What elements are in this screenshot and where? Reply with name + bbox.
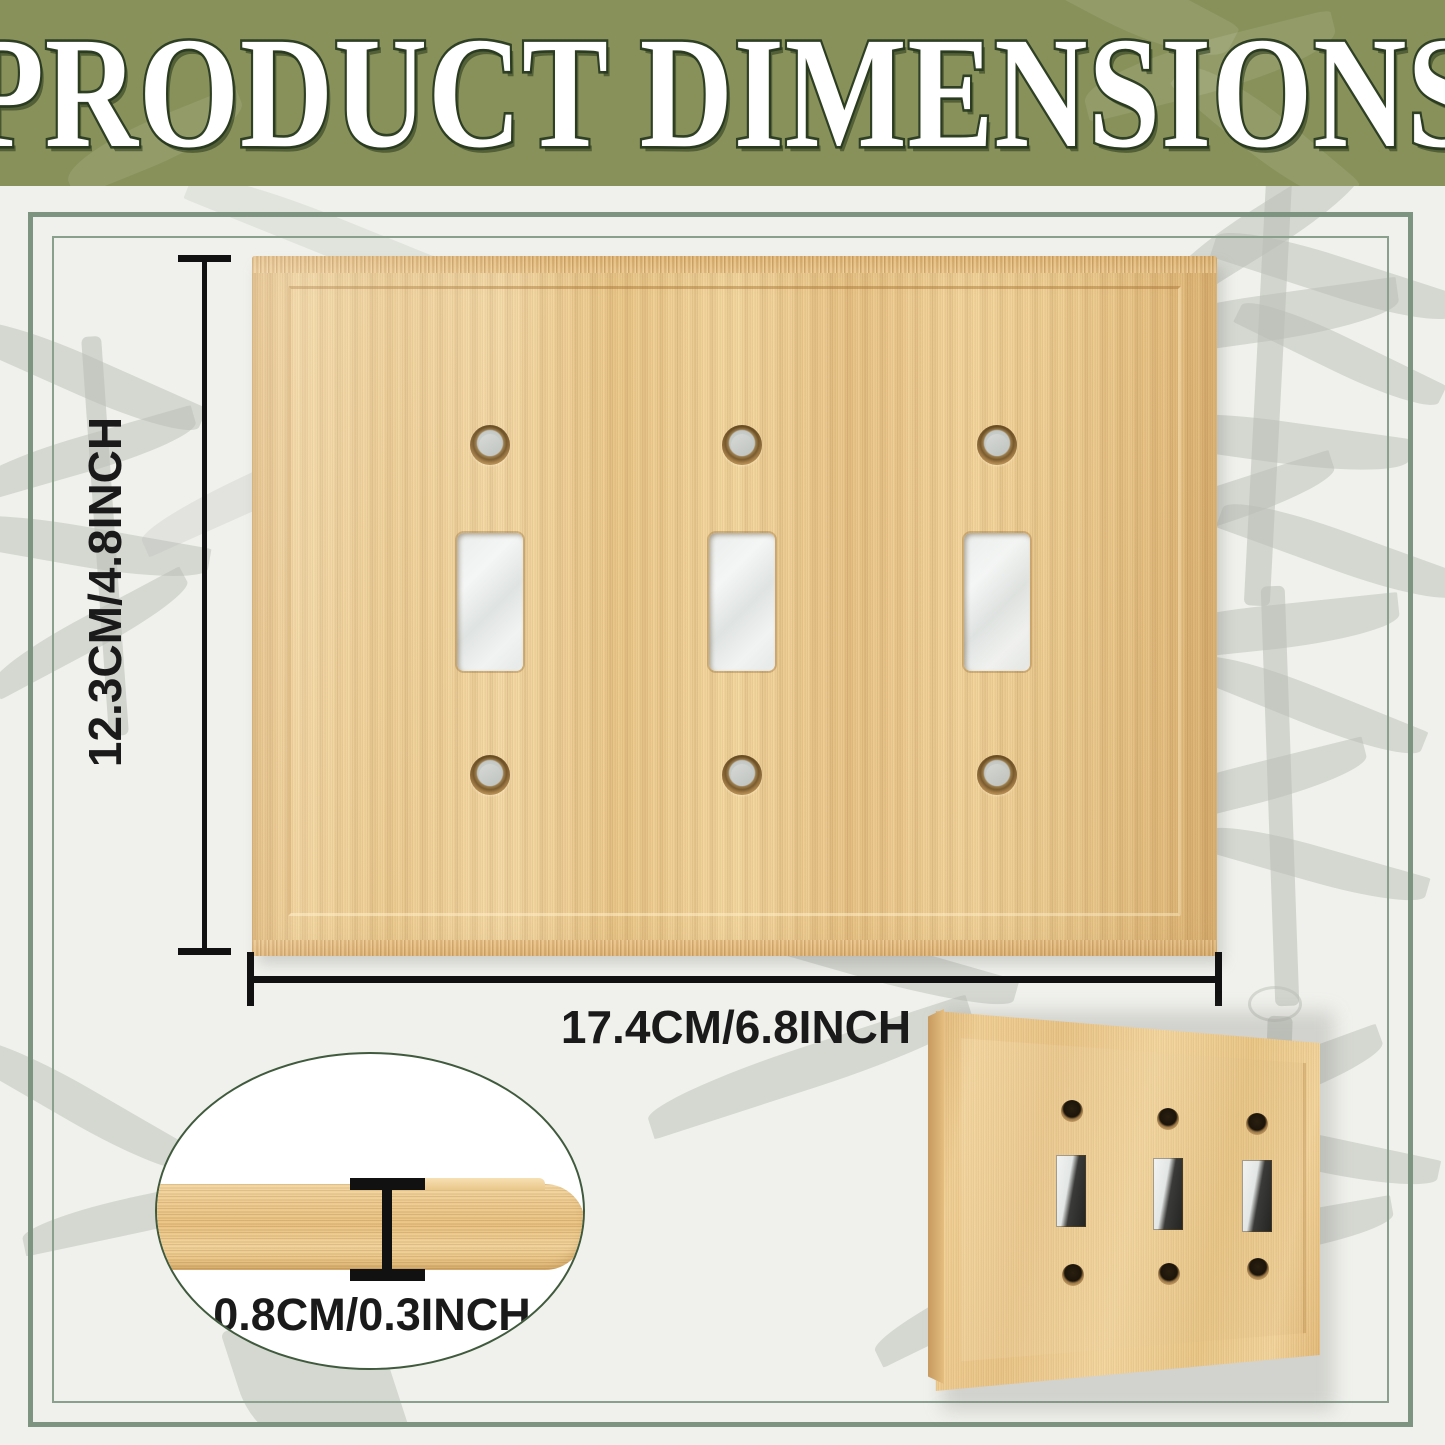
thickness-marker-stem <box>382 1182 392 1276</box>
bamboo-plate-body <box>252 256 1217 956</box>
screw-head <box>479 434 501 456</box>
screw-head <box>479 764 501 786</box>
toggle-switch-cutout <box>1242 1160 1272 1232</box>
toggle-switch-cutout <box>964 533 1030 671</box>
product-dimensions-infographic: PRODUCT DIMENSIONS <box>0 0 1445 1445</box>
screw-hole <box>1062 1264 1084 1286</box>
bamboo-leaf-icon <box>1199 815 1430 913</box>
toggle-switch-cutout <box>709 533 775 671</box>
screw-head <box>731 434 753 456</box>
height-dimension-cap-bottom <box>178 948 231 955</box>
screw-hole <box>722 755 762 795</box>
screw-hole <box>722 425 762 465</box>
screw-hole <box>1158 1263 1180 1285</box>
height-dimension-label: 12.3CM/4.8INCH <box>78 362 132 822</box>
screw-hole <box>1246 1113 1268 1135</box>
product-front-view <box>252 256 1217 956</box>
screw-hole <box>1157 1108 1179 1130</box>
screw-hole <box>977 755 1017 795</box>
screw-hole <box>1247 1258 1269 1280</box>
plate-edge-profile <box>155 1184 585 1270</box>
width-dimension-line <box>250 976 1222 983</box>
bamboo-top-endgrain <box>252 256 1217 273</box>
bottom-margin-strip <box>0 1427 1445 1445</box>
toggle-switch-cutout <box>1153 1158 1183 1230</box>
screw-hole <box>470 755 510 795</box>
screw-hole <box>470 425 510 465</box>
angled-plate-side-edge <box>928 1009 944 1384</box>
toggle-switch-cutout <box>457 533 523 671</box>
thickness-marker-cap-bottom <box>350 1269 425 1281</box>
callout-oval-shape: 0.8CM/0.3INCH <box>155 1052 585 1370</box>
screw-head <box>986 434 1008 456</box>
page-title: PRODUCT DIMENSIONS <box>101 0 1344 186</box>
screw-head <box>731 764 753 786</box>
thickness-dimension-label: 0.8CM/0.3INCH <box>157 1289 585 1341</box>
screw-hole <box>1061 1100 1083 1122</box>
screw-head <box>986 764 1008 786</box>
toggle-switch-cutout <box>1056 1155 1086 1227</box>
bamboo-bottom-endgrain <box>252 940 1217 956</box>
product-angled-view <box>928 995 1328 1410</box>
header-banner: PRODUCT DIMENSIONS <box>0 0 1445 186</box>
screw-hole <box>977 425 1017 465</box>
thickness-callout: 0.8CM/0.3INCH <box>155 1052 585 1370</box>
height-dimension-line <box>202 258 207 952</box>
